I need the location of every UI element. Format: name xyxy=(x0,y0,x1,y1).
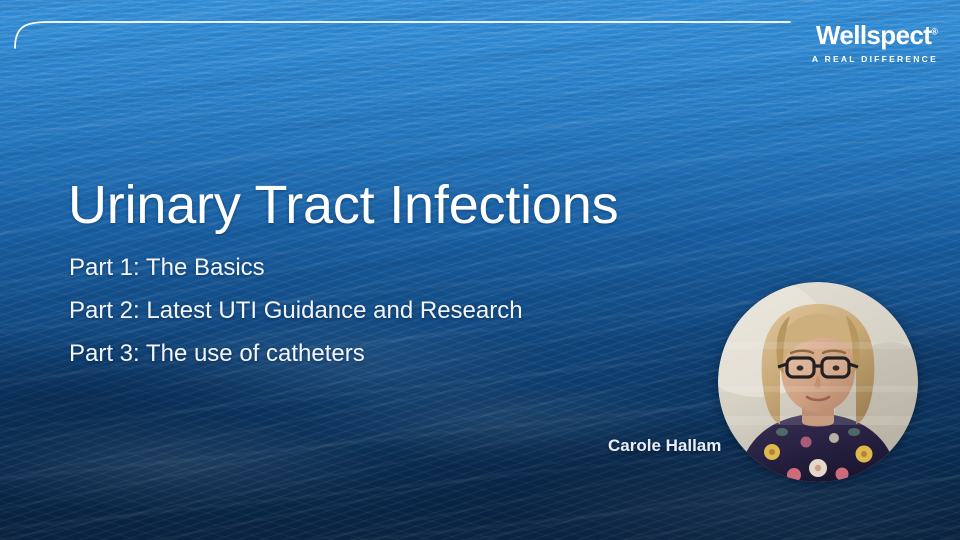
logo-tagline: A REAL DIFFERENCE xyxy=(812,55,938,64)
slide-agenda-list: Part 1: The Basics Part 2: Latest UTI Gu… xyxy=(69,256,729,385)
agenda-item-part-3: Part 3: The use of catheters xyxy=(69,342,729,366)
brand-logo: Wellspect® A REAL DIFFERENCE xyxy=(812,22,938,64)
registered-trademark-icon: ® xyxy=(931,26,938,36)
presenter-avatar xyxy=(718,282,918,482)
title-slide: Wellspect® A REAL DIFFERENCE Urinary Tra… xyxy=(0,0,960,540)
presenter-name: Carole Hallam xyxy=(608,436,721,456)
logo-wordmark: Wellspect® xyxy=(816,22,938,48)
logo-wordmark-text: Wellspect xyxy=(816,20,932,50)
presenter-photo-icon xyxy=(718,282,918,482)
slide-title: Urinary Tract Infections xyxy=(68,176,618,235)
agenda-item-part-2: Part 2: Latest UTI Guidance and Research xyxy=(69,299,729,323)
agenda-item-part-1: Part 1: The Basics xyxy=(69,256,729,280)
